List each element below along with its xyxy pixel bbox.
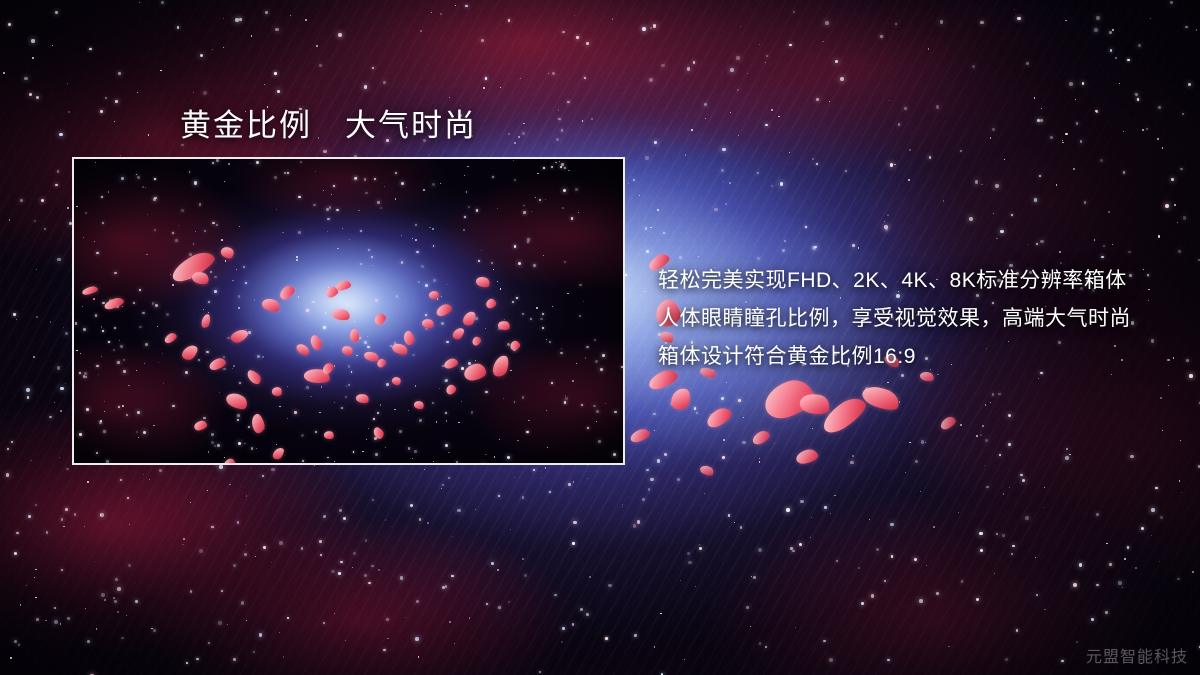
page-title: 黄金比例 大气时尚 xyxy=(180,100,477,145)
body-line-2: 人体眼睛瞳孔比例，享受视觉效果，高端大气时尚 xyxy=(658,300,1178,338)
frame-nebula-core xyxy=(74,159,623,463)
nebula-image-frame[interactable] xyxy=(72,157,625,465)
body-line-3: 箱体设计符合黄金比例16:9 xyxy=(658,338,1178,376)
frame-nebula-base xyxy=(74,159,623,463)
frame-vignette xyxy=(74,159,623,463)
watermark: 元盟智能科技 xyxy=(1086,643,1188,667)
slide-canvas: 黄金比例 大气时尚 轻松完美实现FHD、2K、4K、8K标准分辨率箱体 人体眼睛… xyxy=(0,0,1200,675)
body-line-1: 轻松完美实现FHD、2K、4K、8K标准分辨率箱体 xyxy=(658,262,1178,300)
frame-petals xyxy=(74,159,623,463)
body-text-block: 轻松完美实现FHD、2K、4K、8K标准分辨率箱体 人体眼睛瞳孔比例，享受视觉效… xyxy=(658,262,1178,376)
frame-nebula-red xyxy=(74,159,623,463)
frame-starfield xyxy=(74,159,623,463)
